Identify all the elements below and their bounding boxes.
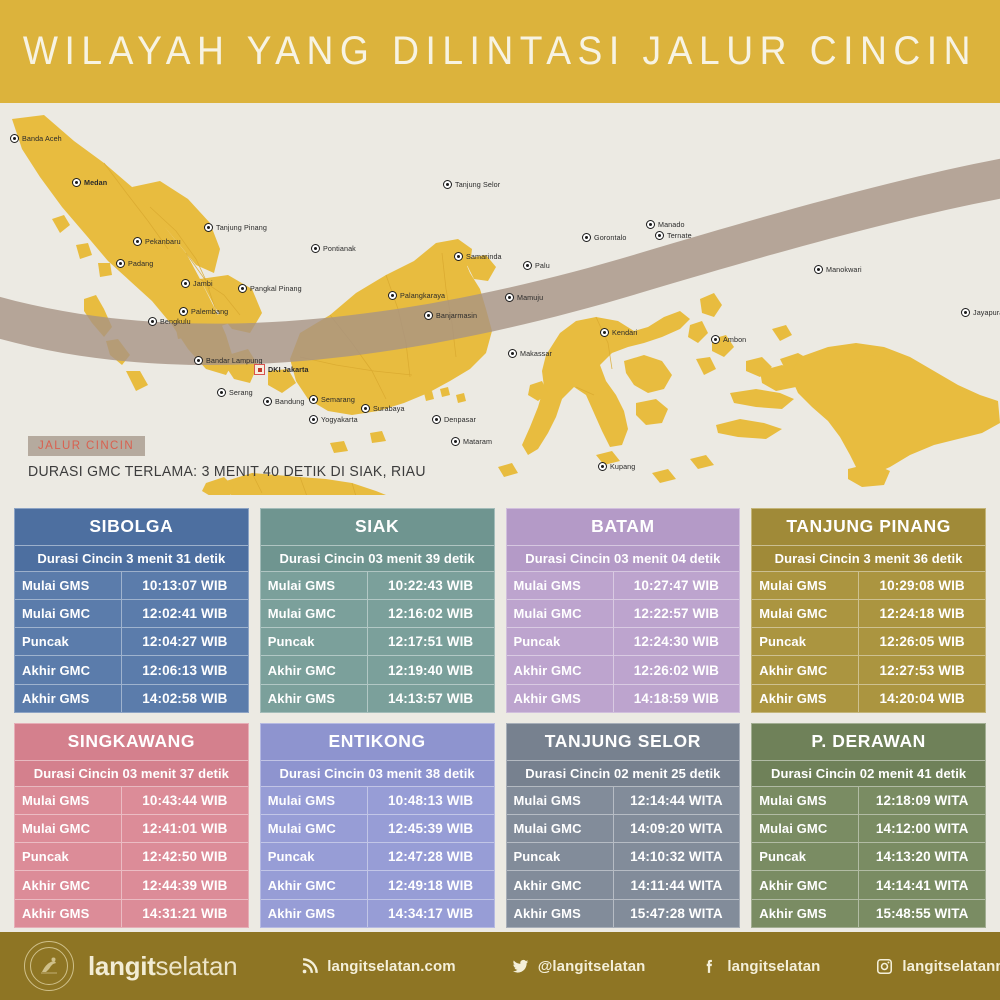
card-row-value: 10:29:08 WIB xyxy=(859,578,985,593)
card-row-label: Mulai GMC xyxy=(261,815,368,842)
card-row: Mulai GMC12:45:39 WIB xyxy=(261,815,494,843)
card-row-value: 14:02:58 WIB xyxy=(122,691,248,706)
card-row-value: 12:45:39 WIB xyxy=(368,821,494,836)
card-row-value: 10:43:44 WIB xyxy=(122,793,248,808)
card-row-value: 10:22:43 WIB xyxy=(368,578,494,593)
card-duration: Durasi Cincin 03 menit 39 detik xyxy=(261,546,494,572)
card-row: Akhir GMC12:26:02 WIB xyxy=(507,656,740,684)
rss-icon xyxy=(301,958,318,975)
card-row-label: Mulai GMS xyxy=(507,572,614,599)
twitter-icon xyxy=(512,958,529,975)
map-caption: DURASI GMC TERLAMA: 3 MENIT 40 DETIK DI … xyxy=(28,464,426,480)
card-title: ENTIKONG xyxy=(261,724,494,761)
card-row-label: Mulai GMC xyxy=(507,815,614,842)
card-row-value: 12:49:18 WIB xyxy=(368,878,494,893)
card-row: Mulai GMC12:16:02 WIB xyxy=(261,600,494,628)
location-card: SIBOLGADurasi Cincin 3 menit 31 detikMul… xyxy=(14,508,249,713)
card-row: Akhir GMS15:48:55 WITA xyxy=(752,900,985,927)
card-row: Mulai GMC14:12:00 WITA xyxy=(752,815,985,843)
card-row-value: 10:48:13 WIB xyxy=(368,793,494,808)
card-row-label: Mulai GMC xyxy=(15,600,122,627)
card-row: Mulai GMC12:02:41 WIB xyxy=(15,600,248,628)
card-title: SIAK xyxy=(261,509,494,546)
map-panel: Banda AcehMedanPekanbaruPadangJambiBengk… xyxy=(0,103,1000,495)
facebook-icon xyxy=(701,958,718,975)
card-title: BATAM xyxy=(507,509,740,546)
card-row-label: Puncak xyxy=(15,628,122,655)
card-row-label: Akhir GMC xyxy=(15,656,122,683)
card-row-label: Akhir GMS xyxy=(752,685,859,712)
card-row-label: Mulai GMS xyxy=(261,787,368,814)
location-card: TANJUNG PINANGDurasi Cincin 3 menit 36 d… xyxy=(751,508,986,713)
card-row: Puncak12:42:50 WIB xyxy=(15,843,248,871)
infographic-page: WILAYAH YANG DILINTASI JALUR CINCIN xyxy=(0,0,1000,1000)
card-duration: Durasi Cincin 3 menit 31 detik xyxy=(15,546,248,572)
brand-bold: langit xyxy=(88,951,156,981)
card-row-value: 12:02:41 WIB xyxy=(122,606,248,621)
card-row-value: 14:09:20 WITA xyxy=(614,821,740,836)
card-row-label: Akhir GMC xyxy=(507,871,614,898)
card-row: Puncak12:17:51 WIB xyxy=(261,628,494,656)
card-row: Mulai GMS10:27:47 WIB xyxy=(507,572,740,600)
page-title: WILAYAH YANG DILINTASI JALUR CINCIN xyxy=(23,29,977,74)
card-row-label: Puncak xyxy=(507,843,614,870)
card-row-value: 14:14:41 WITA xyxy=(859,878,985,893)
card-row: Mulai GMC12:41:01 WIB xyxy=(15,815,248,843)
card-row-value: 12:06:13 WIB xyxy=(122,663,248,678)
card-row: Mulai GMC14:09:20 WITA xyxy=(507,815,740,843)
card-row: Akhir GMC14:14:41 WITA xyxy=(752,871,985,899)
location-card: SIAKDurasi Cincin 03 menit 39 detikMulai… xyxy=(260,508,495,713)
card-row-label: Mulai GMC xyxy=(261,600,368,627)
location-card: BATAMDurasi Cincin 03 menit 04 detikMula… xyxy=(506,508,741,713)
card-row-label: Mulai GMC xyxy=(752,600,859,627)
card-row-label: Puncak xyxy=(15,843,122,870)
card-row: Akhir GMS14:13:57 WIB xyxy=(261,685,494,712)
card-row-value: 14:10:32 WITA xyxy=(614,849,740,864)
card-row-label: Mulai GMS xyxy=(507,787,614,814)
card-row-value: 12:19:40 WIB xyxy=(368,663,494,678)
card-row-value: 12:44:39 WIB xyxy=(122,878,248,893)
card-row-value: 15:48:55 WITA xyxy=(859,906,985,921)
card-row: Puncak12:47:28 WIB xyxy=(261,843,494,871)
card-row: Puncak14:10:32 WITA xyxy=(507,843,740,871)
card-row-label: Mulai GMS xyxy=(752,572,859,599)
brand-light: selatan xyxy=(156,951,238,981)
card-row-value: 14:13:57 WIB xyxy=(368,691,494,706)
card-row: Mulai GMS12:18:09 WITA xyxy=(752,787,985,815)
card-row-value: 12:14:44 WITA xyxy=(614,793,740,808)
social-links: langitselatan.com@langitselatanlangitsel… xyxy=(301,958,1000,975)
card-row: Akhir GMS14:31:21 WIB xyxy=(15,900,248,927)
card-row: Akhir GMC14:11:44 WITA xyxy=(507,871,740,899)
card-row: Mulai GMS10:22:43 WIB xyxy=(261,572,494,600)
card-row-value: 14:20:04 WIB xyxy=(859,691,985,706)
location-card: ENTIKONGDurasi Cincin 03 menit 38 detikM… xyxy=(260,723,495,928)
indonesia-map-svg xyxy=(0,103,1000,495)
card-row-label: Mulai GMS xyxy=(752,787,859,814)
card-row: Puncak12:24:30 WIB xyxy=(507,628,740,656)
brand-wordmark: langitselatan xyxy=(88,951,237,982)
card-row-value: 14:13:20 WITA xyxy=(859,849,985,864)
card-row-value: 14:12:00 WITA xyxy=(859,821,985,836)
card-row-label: Akhir GMS xyxy=(507,685,614,712)
card-row-label: Mulai GMS xyxy=(15,572,122,599)
card-duration: Durasi Cincin 03 menit 38 detik xyxy=(261,761,494,787)
card-row-label: Puncak xyxy=(507,628,614,655)
card-row: Mulai GMS10:43:44 WIB xyxy=(15,787,248,815)
card-row-value: 14:18:59 WIB xyxy=(614,691,740,706)
card-row: Mulai GMS10:48:13 WIB xyxy=(261,787,494,815)
card-row-label: Puncak xyxy=(261,628,368,655)
card-duration: Durasi Cincin 3 menit 36 detik xyxy=(752,546,985,572)
card-row-label: Akhir GMC xyxy=(507,656,614,683)
card-row-value: 12:42:50 WIB xyxy=(122,849,248,864)
card-row-value: 12:22:57 WIB xyxy=(614,606,740,621)
card-row: Akhir GMC12:19:40 WIB xyxy=(261,656,494,684)
card-row-label: Akhir GMS xyxy=(15,685,122,712)
card-row-value: 14:31:21 WIB xyxy=(122,906,248,921)
card-row-label: Puncak xyxy=(261,843,368,870)
card-row: Akhir GMC12:06:13 WIB xyxy=(15,656,248,684)
card-row: Akhir GMC12:44:39 WIB xyxy=(15,871,248,899)
card-row-label: Puncak xyxy=(752,628,859,655)
card-row-value: 12:26:05 WIB xyxy=(859,634,985,649)
footer-bar: langitselatan langitselatan.com@langitse… xyxy=(0,932,1000,1000)
card-row-label: Akhir GMS xyxy=(15,900,122,927)
card-row: Puncak12:26:05 WIB xyxy=(752,628,985,656)
langitselatan-seal-logo xyxy=(24,941,74,991)
card-row: Akhir GMS14:34:17 WIB xyxy=(261,900,494,927)
card-duration: Durasi Cincin 02 menit 41 detik xyxy=(752,761,985,787)
social-link[interactable]: langitselatan xyxy=(701,958,820,975)
card-row-value: 12:18:09 WITA xyxy=(859,793,985,808)
card-row-label: Puncak xyxy=(752,843,859,870)
social-link[interactable]: @langitselatan xyxy=(512,958,646,975)
card-title: TANJUNG SELOR xyxy=(507,724,740,761)
card-row-value: 14:34:17 WIB xyxy=(368,906,494,921)
card-row: Mulai GMC12:22:57 WIB xyxy=(507,600,740,628)
social-link[interactable]: langitselatan.com xyxy=(301,958,455,975)
social-label: langitselatanmedia xyxy=(902,958,1000,975)
location-card: P. DERAWANDurasi Cincin 02 menit 41 deti… xyxy=(751,723,986,928)
header-bar: WILAYAH YANG DILINTASI JALUR CINCIN xyxy=(0,0,1000,103)
card-row: Mulai GMS10:29:08 WIB xyxy=(752,572,985,600)
social-label: @langitselatan xyxy=(538,958,646,975)
card-title: SINGKAWANG xyxy=(15,724,248,761)
card-row-value: 12:04:27 WIB xyxy=(122,634,248,649)
card-row-label: Mulai GMS xyxy=(15,787,122,814)
card-row-value: 12:24:18 WIB xyxy=(859,606,985,621)
card-row: Puncak14:13:20 WITA xyxy=(752,843,985,871)
social-label: langitselatan xyxy=(727,958,820,975)
card-row-label: Mulai GMC xyxy=(507,600,614,627)
card-row-label: Akhir GMC xyxy=(752,656,859,683)
card-row-label: Akhir GMS xyxy=(261,900,368,927)
card-row-label: Akhir GMC xyxy=(752,871,859,898)
card-row: Mulai GMS12:14:44 WITA xyxy=(507,787,740,815)
card-row-label: Akhir GMS xyxy=(752,900,859,927)
card-row-label: Mulai GMS xyxy=(261,572,368,599)
card-duration: Durasi Cincin 03 menit 37 detik xyxy=(15,761,248,787)
card-row-label: Mulai GMC xyxy=(15,815,122,842)
card-row-value: 10:27:47 WIB xyxy=(614,578,740,593)
card-row-value: 14:11:44 WITA xyxy=(614,878,740,893)
card-row-label: Mulai GMC xyxy=(752,815,859,842)
card-row-value: 12:27:53 WIB xyxy=(859,663,985,678)
card-row: Mulai GMC12:24:18 WIB xyxy=(752,600,985,628)
card-row-value: 15:47:28 WITA xyxy=(614,906,740,921)
card-row-value: 12:17:51 WIB xyxy=(368,634,494,649)
card-row: Mulai GMS10:13:07 WIB xyxy=(15,572,248,600)
card-row-value: 12:41:01 WIB xyxy=(122,821,248,836)
seal-rider-icon xyxy=(36,953,62,979)
location-card: SINGKAWANGDurasi Cincin 03 menit 37 deti… xyxy=(14,723,249,928)
card-duration: Durasi Cincin 03 menit 04 detik xyxy=(507,546,740,572)
card-duration: Durasi Cincin 02 menit 25 detik xyxy=(507,761,740,787)
social-link[interactable]: langitselatanmedia xyxy=(876,958,1000,975)
card-row: Akhir GMC12:49:18 WIB xyxy=(261,871,494,899)
card-row-label: Akhir GMC xyxy=(15,871,122,898)
card-row-label: Akhir GMC xyxy=(261,656,368,683)
card-row: Akhir GMS14:02:58 WIB xyxy=(15,685,248,712)
card-row-value: 12:16:02 WIB xyxy=(368,606,494,621)
card-row: Akhir GMS14:18:59 WIB xyxy=(507,685,740,712)
legend-jalur-cincin: JALUR CINCIN xyxy=(28,436,145,456)
card-row-value: 12:26:02 WIB xyxy=(614,663,740,678)
card-row-label: Akhir GMC xyxy=(261,871,368,898)
card-row: Akhir GMS14:20:04 WIB xyxy=(752,685,985,712)
card-row-label: Akhir GMS xyxy=(507,900,614,927)
card-title: TANJUNG PINANG xyxy=(752,509,985,546)
card-row: Akhir GMS15:47:28 WITA xyxy=(507,900,740,927)
card-row-value: 12:24:30 WIB xyxy=(614,634,740,649)
card-row-value: 10:13:07 WIB xyxy=(122,578,248,593)
instagram-icon xyxy=(876,958,893,975)
card-title: SIBOLGA xyxy=(15,509,248,546)
card-row: Akhir GMC12:27:53 WIB xyxy=(752,656,985,684)
card-row-label: Akhir GMS xyxy=(261,685,368,712)
card-title: P. DERAWAN xyxy=(752,724,985,761)
location-cards-grid: SIBOLGADurasi Cincin 3 menit 31 detikMul… xyxy=(14,508,986,928)
location-card: TANJUNG SELORDurasi Cincin 02 menit 25 d… xyxy=(506,723,741,928)
card-row: Puncak12:04:27 WIB xyxy=(15,628,248,656)
card-row-value: 12:47:28 WIB xyxy=(368,849,494,864)
social-label: langitselatan.com xyxy=(327,958,455,975)
